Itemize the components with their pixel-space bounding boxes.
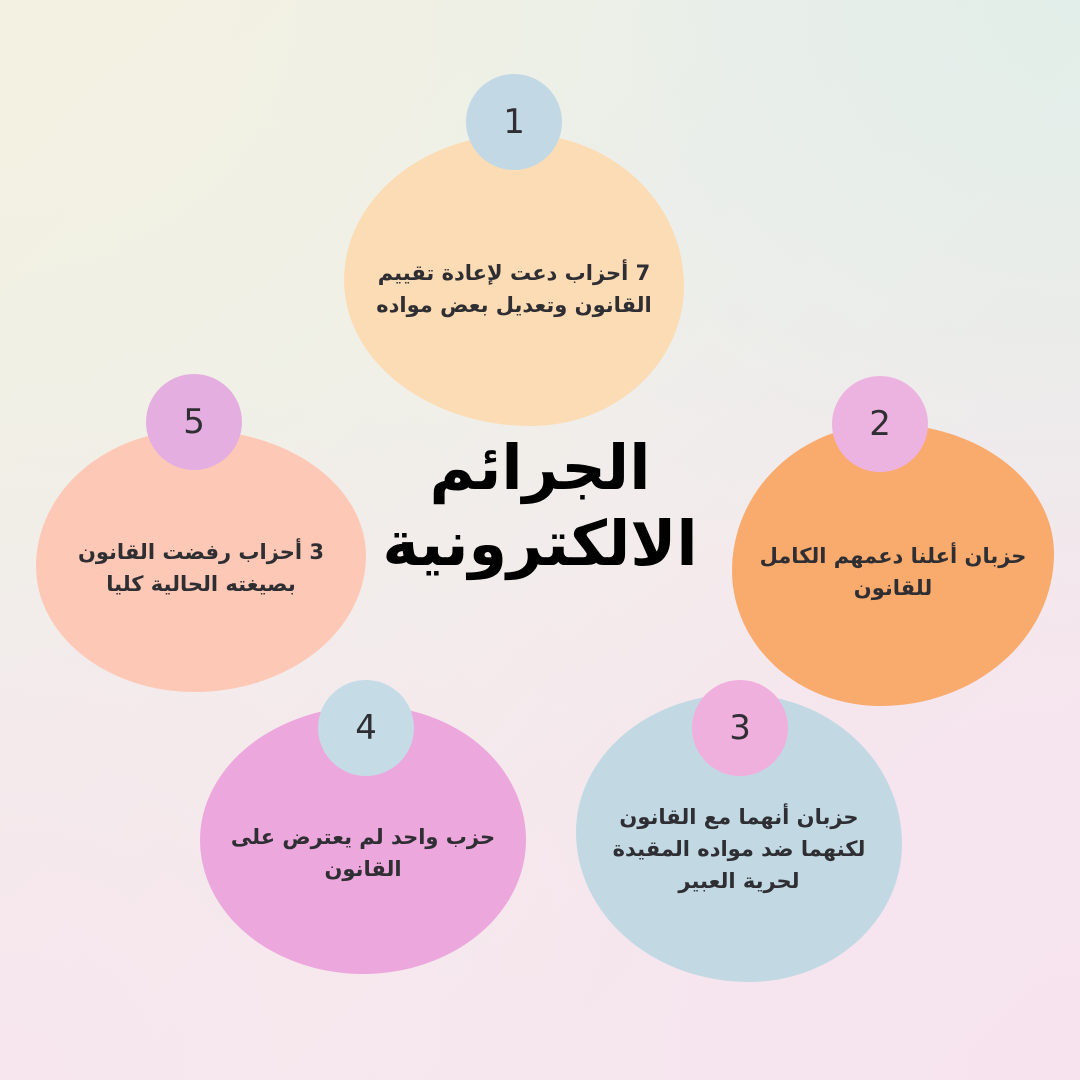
number-badge-1[interactable]: 1 — [466, 74, 562, 170]
number-badge-3[interactable]: 3 — [692, 680, 788, 776]
info-bubble-1[interactable]: 7 أحزاب دعت لإعادة تقييم القانون وتعديل … — [344, 134, 684, 426]
page-title: الجرائم الالكترونية — [310, 430, 770, 581]
number-badge-3-label: 3 — [729, 708, 751, 748]
number-badge-1-label: 1 — [503, 102, 525, 142]
infographic-canvas: 7 أحزاب دعت لإعادة تقييم القانون وتعديل … — [0, 0, 1080, 1080]
number-badge-5-label: 5 — [183, 402, 205, 442]
info-bubble-3-text: حزبان أنهما مع القانون لكنهما ضد مواده ا… — [576, 802, 902, 898]
number-badge-2[interactable]: 2 — [832, 376, 928, 472]
info-bubble-5-text: 3 أحزاب رفضت القانون بصيغته الحالية كليا — [36, 537, 366, 601]
page-title-line-1: الجرائم — [310, 430, 770, 506]
number-badge-4[interactable]: 4 — [318, 680, 414, 776]
info-bubble-1-text: 7 أحزاب دعت لإعادة تقييم القانون وتعديل … — [344, 258, 684, 322]
number-badge-2-label: 2 — [869, 404, 891, 444]
page-title-line-2: الالكترونية — [310, 506, 770, 582]
number-badge-4-label: 4 — [355, 708, 377, 748]
info-bubble-2-text: حزبان أعلنا دعمهم الكامل للقانون — [732, 541, 1054, 605]
info-bubble-4-text: حزب واحد لم يعترض على القانون — [200, 822, 526, 886]
number-badge-5[interactable]: 5 — [146, 374, 242, 470]
